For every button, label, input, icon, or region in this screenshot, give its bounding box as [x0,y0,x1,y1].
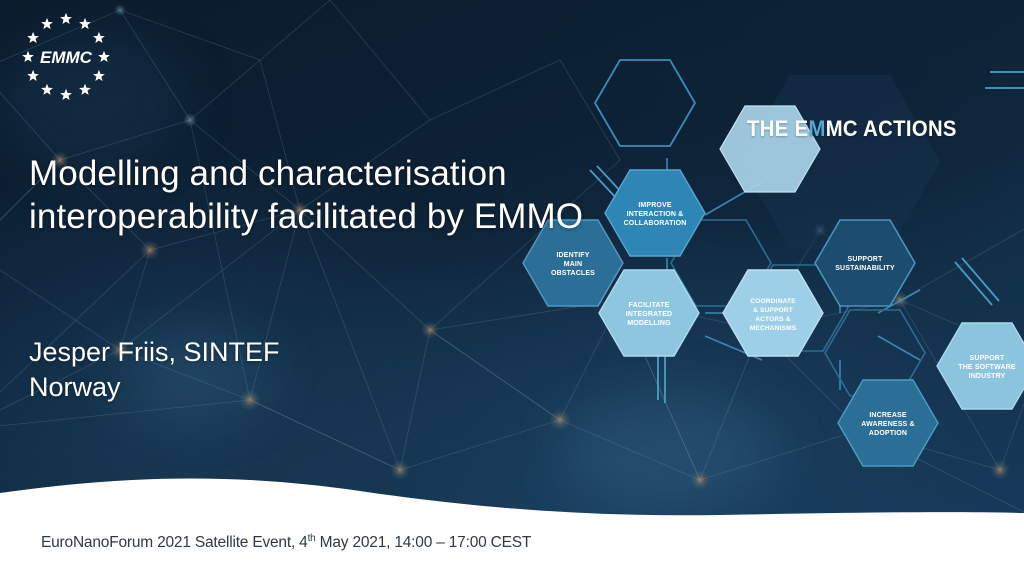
logo-star [27,70,39,81]
footer-text-after: May 2021, 14:00 – 17:00 CEST [316,534,532,551]
hex-label-line: INTEGRATED [626,311,672,318]
logo-star [60,89,72,100]
slide-author: Jesper Friis, SINTEF Norway [29,335,489,405]
logo-star [41,18,53,29]
logo-star [98,51,110,62]
hex-label-line: ADOPTION [869,430,907,437]
footer-superscript: th [308,533,316,544]
footer-text-before: EuroNanoForum 2021 Satellite Event, 4 [41,534,308,551]
hex-label-line: SUSTAINABILITY [835,265,895,272]
hex-label-line: COORDINATE [750,298,796,305]
hex-label-line: AWARENESS & [861,421,914,428]
hex-label-line: INTERACTION & [627,211,684,218]
hex-label-line: MODELLING [627,320,671,327]
hex-label-line: SUPPORT [848,256,883,263]
hex-label-line: INDUSTRY [969,373,1006,380]
slide-footer: EuroNanoForum 2021 Satellite Event, 4th … [41,534,531,552]
hexagon-improve-interaction[interactable]: IMPROVE INTERACTION & COLLABORATION [605,170,705,256]
hexagon-facilitate-modelling[interactable]: FACILITATE INTEGRATED MODELLING [599,270,699,356]
hex-label-line: SUPPORT [970,355,1005,362]
hex-label-line: IDENTIFY [556,252,589,259]
presentation-slide: IMPROVE INTERACTION & COLLABORATION IDEN… [0,0,1024,576]
hex-label-line: FACILITATE [629,302,670,309]
white-wave-divider [0,455,1024,576]
hexagon-empty-outline [595,60,695,146]
logo-star [93,70,105,81]
logo-star [93,32,105,43]
emmc-actions-graphic: IMPROVE INTERACTION & COLLABORATION IDEN… [500,40,1024,460]
hex-label-line: ACTORS & [755,316,791,323]
hexagon-coordinate-support[interactable]: COORDINATE & SUPPORT ACTORS & MECHANISMS [723,270,823,356]
hex-label-line: OBSTACLES [551,270,595,277]
hex-label-line: THE SOFTWARE [958,364,1016,371]
hex-label-line: MAIN [564,261,583,268]
hexagon-support-software-industry[interactable]: SUPPORT THE SOFTWARE INDUSTRY [937,323,1024,409]
hex-label-line: MECHANISMS [750,325,797,332]
logo-star [27,32,39,43]
logo-star [79,18,91,29]
hex-label-line: COLLABORATION [624,220,687,227]
hex-label-line: INCREASE [869,412,907,419]
logo-star [22,51,34,62]
hexagon-increase-awareness[interactable]: INCREASE AWARENESS & ADOPTION [838,380,938,466]
slide-title: Modelling and characterisation interoper… [29,152,589,238]
logo-star [79,84,91,95]
emmc-logo-text: EMMC [40,48,93,67]
logo-star [41,84,53,95]
hex-label-line: IMPROVE [638,202,672,209]
emmc-logo: EMMC [14,6,118,108]
hex-label-line: & SUPPORT [753,307,793,314]
emmc-actions-heading: THE EMMC ACTIONS [747,116,957,142]
logo-star [60,13,72,24]
